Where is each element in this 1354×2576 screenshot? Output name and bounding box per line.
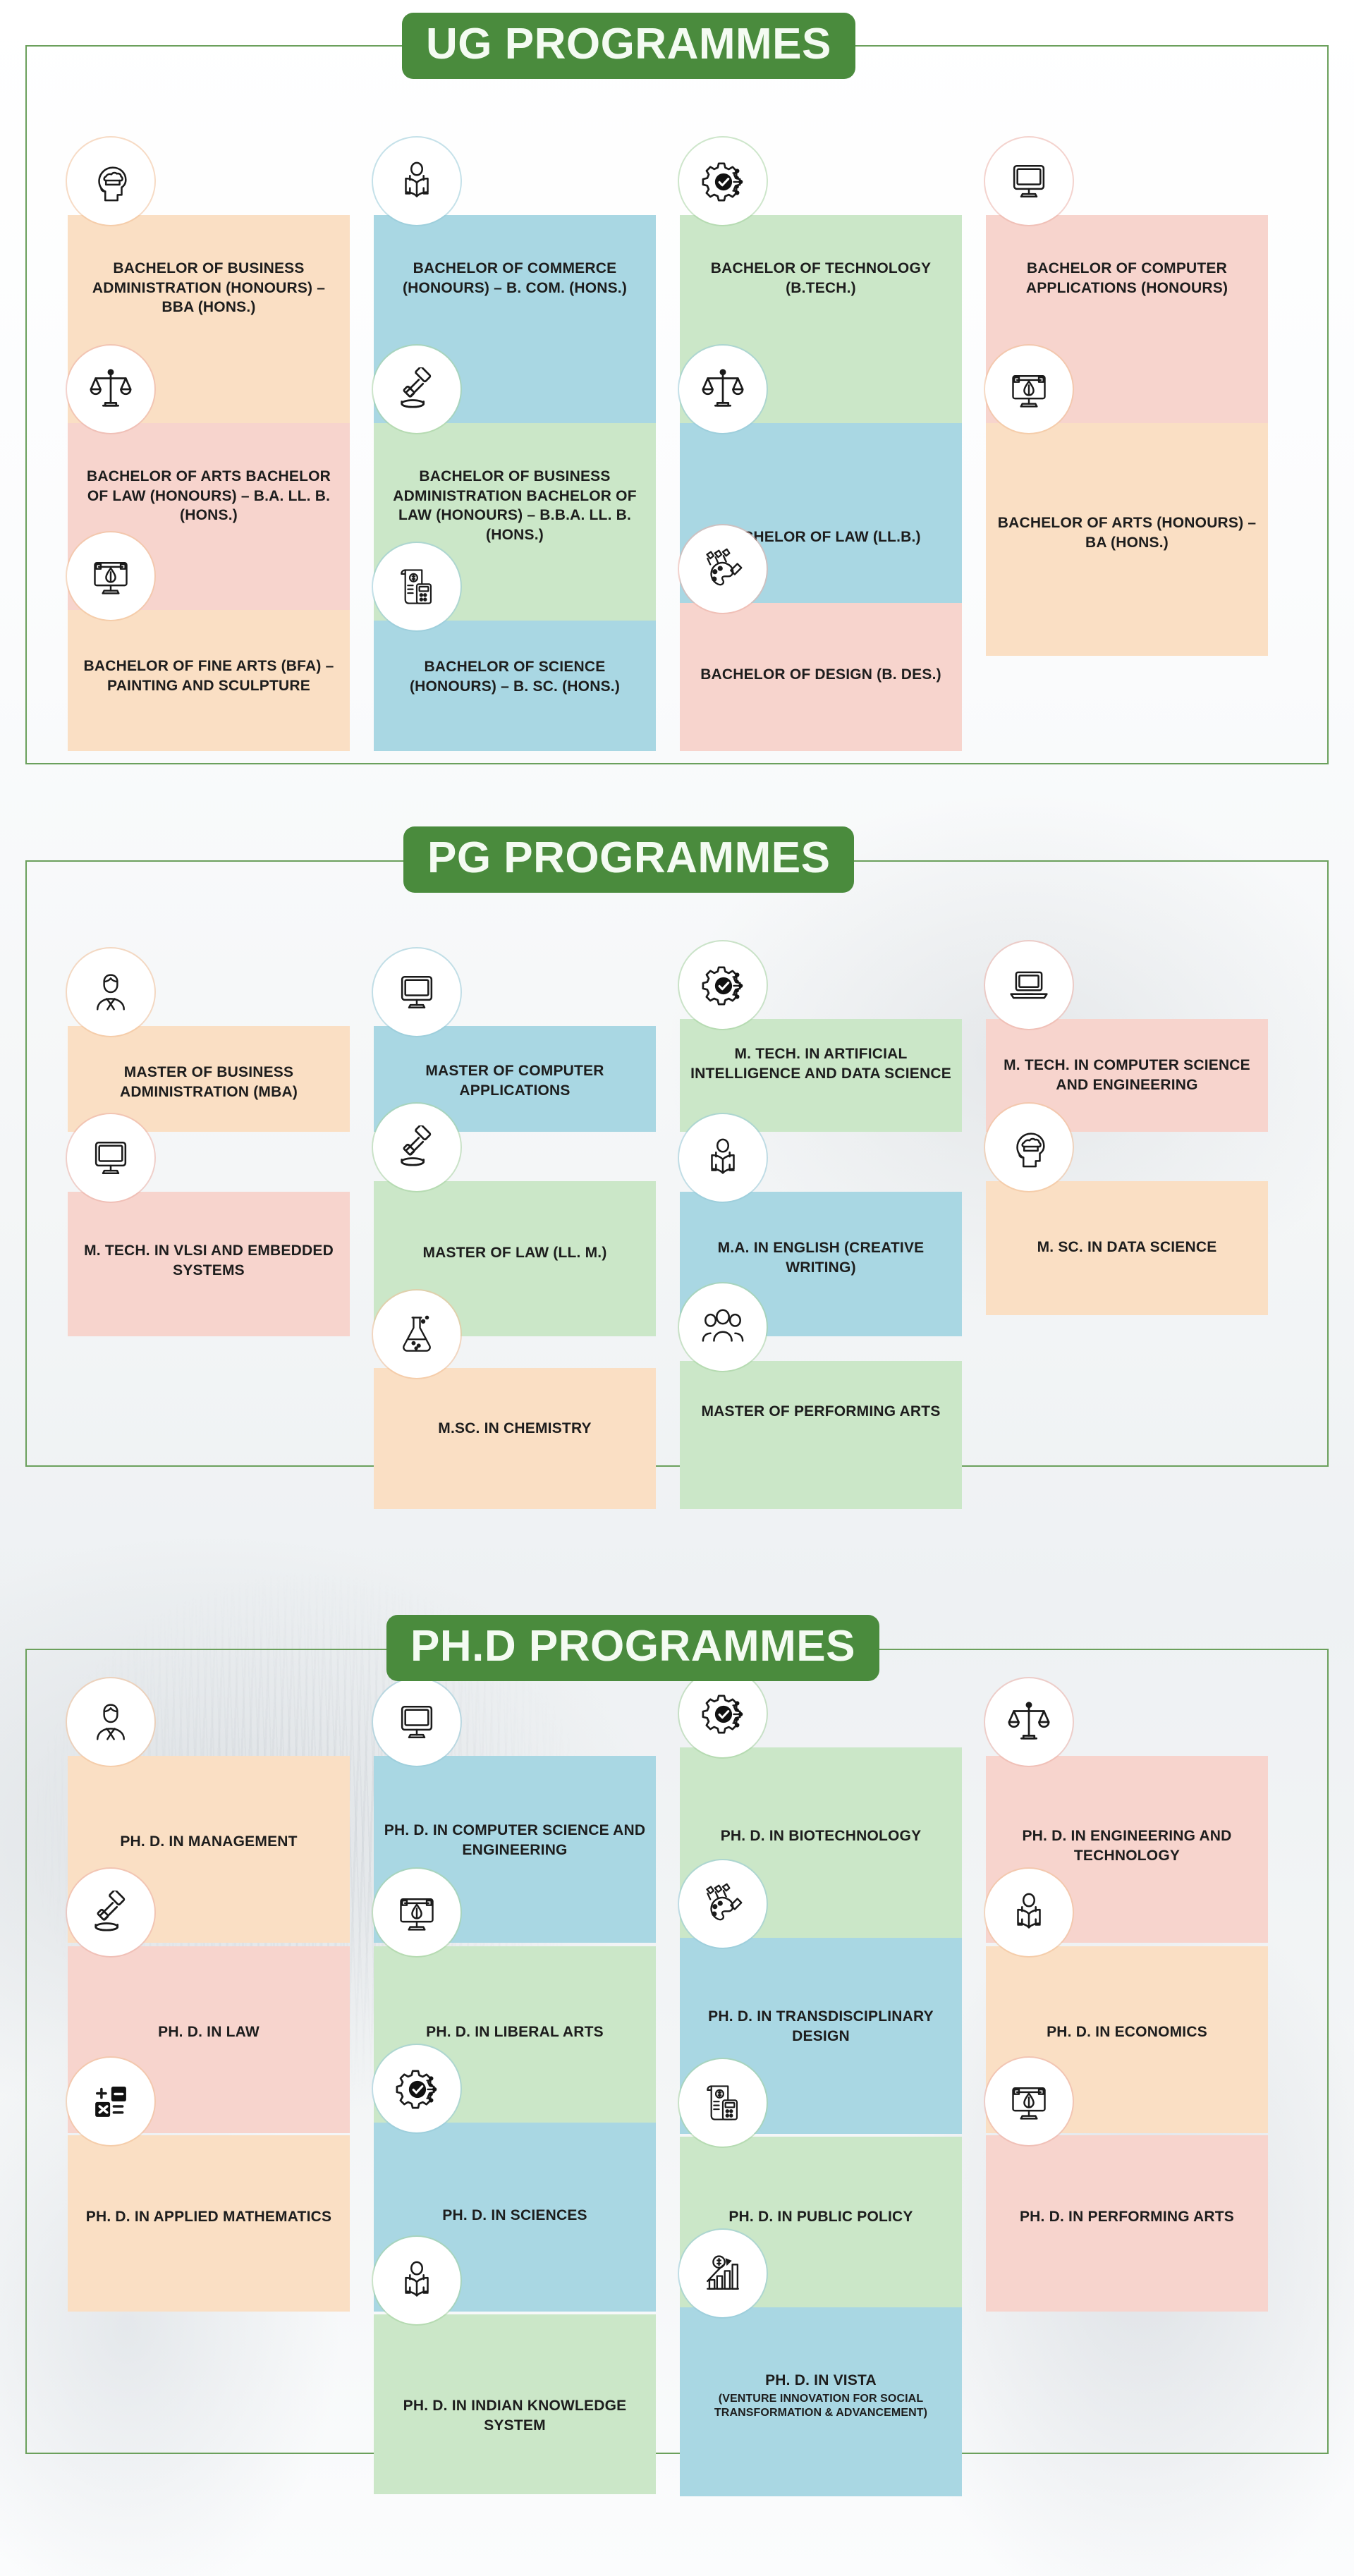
design-pen-monitor-icon	[985, 2058, 1073, 2145]
head-brain-icon	[67, 138, 154, 225]
card-label: PH. D. IN APPLIED MATHEMATICS	[78, 2207, 340, 2227]
person-reading-book-icon	[985, 1869, 1073, 1956]
card-label: PH. D. IN COMPUTER SCIENCE AND ENGINEERI…	[384, 1821, 646, 1860]
card-label: M. SC. IN DATA SCIENCE	[996, 1238, 1258, 1257]
palette-brush-icon	[679, 525, 767, 613]
card-label: MASTER OF BUSINESS ADMINISTRATION (MBA)	[78, 1063, 340, 1101]
card-phd-12[interactable]: PH. D. IN INDIAN KNOWLEDGE SYSTEM	[374, 2314, 656, 2494]
desktop-monitor-icon	[985, 138, 1073, 225]
card-label: PH. D. IN ECONOMICS	[996, 2022, 1258, 2042]
card-pg-9[interactable]: MASTER OF PERFORMING ARTS	[680, 1361, 962, 1509]
group-people-icon	[679, 1283, 767, 1371]
card-label: M. TECH. IN COMPUTER SCIENCE AND ENGINEE…	[996, 1056, 1258, 1094]
card-label: PH. D. IN PERFORMING ARTS	[996, 2207, 1258, 2227]
card-label: PH. D. IN MANAGEMENT	[78, 1832, 340, 1852]
card-label: PH. D. IN ENGINEERING AND TECHNOLOGY	[996, 1826, 1258, 1865]
card-label: BACHELOR OF ARTS BACHELOR OF LAW (HONOUR…	[78, 467, 340, 525]
invoice-calculator-icon	[373, 543, 461, 630]
gear-check-circuit-icon	[679, 941, 767, 1029]
desktop-monitor-icon	[373, 948, 461, 1036]
invoice-calculator-icon	[679, 2059, 767, 2147]
design-pen-monitor-icon	[67, 532, 154, 620]
gavel-icon	[373, 1104, 461, 1191]
head-brain-icon	[985, 1104, 1073, 1191]
card-label-sub: (VENTURE INNOVATION FOR SOCIAL TRANSFORM…	[690, 2392, 952, 2420]
card-label: BACHELOR OF COMPUTER APPLICATIONS (HONOU…	[996, 259, 1258, 298]
card-label: M.SC. IN CHEMISTRY	[384, 1419, 646, 1439]
gavel-icon	[67, 1869, 154, 1956]
card-phd-8[interactable]: PH. D. IN APPLIED MATHEMATICS	[68, 2135, 350, 2312]
card-label: PH. D. IN SCIENCES	[384, 2206, 646, 2226]
scales-of-justice-icon	[679, 346, 767, 433]
card-ug-10[interactable]: BACHELOR OF DESIGN (B. DES.)	[680, 603, 962, 751]
pg-frame	[25, 860, 1329, 1467]
card-label: PH. D. IN LIBERAL ARTS	[384, 2022, 646, 2042]
card-label: PH. D. IN PUBLIC POLICY	[690, 2207, 952, 2227]
palette-brush-icon	[679, 1860, 767, 1948]
card-label: MASTER OF LAW (LL. M.)	[384, 1243, 646, 1263]
ug-section-title: UG PROGRAMMES	[402, 13, 855, 79]
gavel-icon	[373, 346, 461, 433]
card-label: BACHELOR OF SCIENCE (HONOURS) – B. SC. (…	[384, 657, 646, 696]
scales-of-justice-icon	[985, 1678, 1073, 1766]
growth-chart-dollar-icon	[679, 2230, 767, 2317]
person-reading-book-icon	[373, 138, 461, 225]
card-phd-13[interactable]: PH. D. IN VISTA (VENTURE INNOVATION FOR …	[680, 2307, 962, 2496]
person-reading-book-icon	[679, 1114, 767, 1202]
scales-of-justice-icon	[67, 346, 154, 433]
card-label-main: PH. D. IN VISTA	[765, 2372, 877, 2388]
card-label: PH. D. IN LAW	[78, 2022, 340, 2042]
design-pen-monitor-icon	[985, 346, 1073, 433]
math-operators-icon	[67, 2058, 154, 2145]
businessperson-icon	[67, 948, 154, 1036]
gear-check-circuit-icon	[373, 2045, 461, 2132]
card-label: BACHELOR OF BUSINESS ADMINISTRATION (HON…	[78, 259, 340, 317]
card-label: MASTER OF COMPUTER APPLICATIONS	[384, 1061, 646, 1100]
card-label: BACHELOR OF BUSINESS ADMINISTRATION BACH…	[384, 467, 646, 545]
card-label: BACHELOR OF COMMERCE (HONOURS) – B. COM.…	[384, 259, 646, 298]
card-label: PH. D. IN BIOTECHNOLOGY	[690, 1826, 952, 1846]
flask-icon	[373, 1290, 461, 1378]
design-pen-monitor-icon	[373, 1869, 461, 1956]
gear-check-circuit-icon	[679, 138, 767, 225]
businessperson-icon	[67, 1678, 154, 1766]
laptop-icon	[985, 941, 1073, 1029]
card-label: BACHELOR OF TECHNOLOGY (B.TECH.)	[690, 259, 952, 298]
card-phd-11[interactable]: PH. D. IN PERFORMING ARTS	[986, 2135, 1268, 2312]
card-ug-9[interactable]: BACHELOR OF SCIENCE (HONOURS) – B. SC. (…	[374, 621, 656, 751]
card-label: BACHELOR OF FINE ARTS (BFA) – PAINTING A…	[78, 657, 340, 695]
card-pg-7[interactable]: M. SC. IN DATA SCIENCE	[986, 1181, 1268, 1315]
card-label: M. TECH. IN ARTIFICIAL INTELLIGENCE AND …	[690, 1044, 952, 1083]
card-label: PH. D. IN INDIAN KNOWLEDGE SYSTEM	[384, 2396, 646, 2435]
desktop-monitor-icon	[373, 1678, 461, 1766]
phd-section-title: PH.D PROGRAMMES	[386, 1615, 879, 1681]
card-pg-8[interactable]: M.SC. IN CHEMISTRY	[374, 1368, 656, 1509]
card-label: PH. D. IN TRANSDISCIPLINARY DESIGN	[690, 2007, 952, 2046]
card-pg-4[interactable]: M. TECH. IN VLSI AND EMBEDDED SYSTEMS	[68, 1192, 350, 1336]
card-label: MASTER OF PERFORMING ARTS	[690, 1402, 952, 1422]
card-label: M.A. IN ENGLISH (CREATIVE WRITING)	[690, 1238, 952, 1277]
pg-section-title: PG PROGRAMMES	[403, 826, 854, 893]
card-label: M. TECH. IN VLSI AND EMBEDDED SYSTEMS	[78, 1241, 340, 1280]
card-label: BACHELOR OF DESIGN (B. DES.)	[690, 665, 952, 685]
card-label: BACHELOR OF ARTS (HONOURS) – BA (HONS.)	[996, 513, 1258, 552]
gear-check-circuit-icon	[679, 1670, 767, 1757]
card-ug-8[interactable]: BACHELOR OF FINE ARTS (BFA) – PAINTING A…	[68, 610, 350, 751]
person-reading-book-icon	[373, 2237, 461, 2324]
desktop-monitor-icon	[67, 1114, 154, 1202]
card-label: PH. D. IN VISTA (VENTURE INNOVATION FOR …	[690, 2371, 952, 2420]
card-ug-7[interactable]: BACHELOR OF ARTS (HONOURS) – BA (HONS.)	[986, 423, 1268, 656]
